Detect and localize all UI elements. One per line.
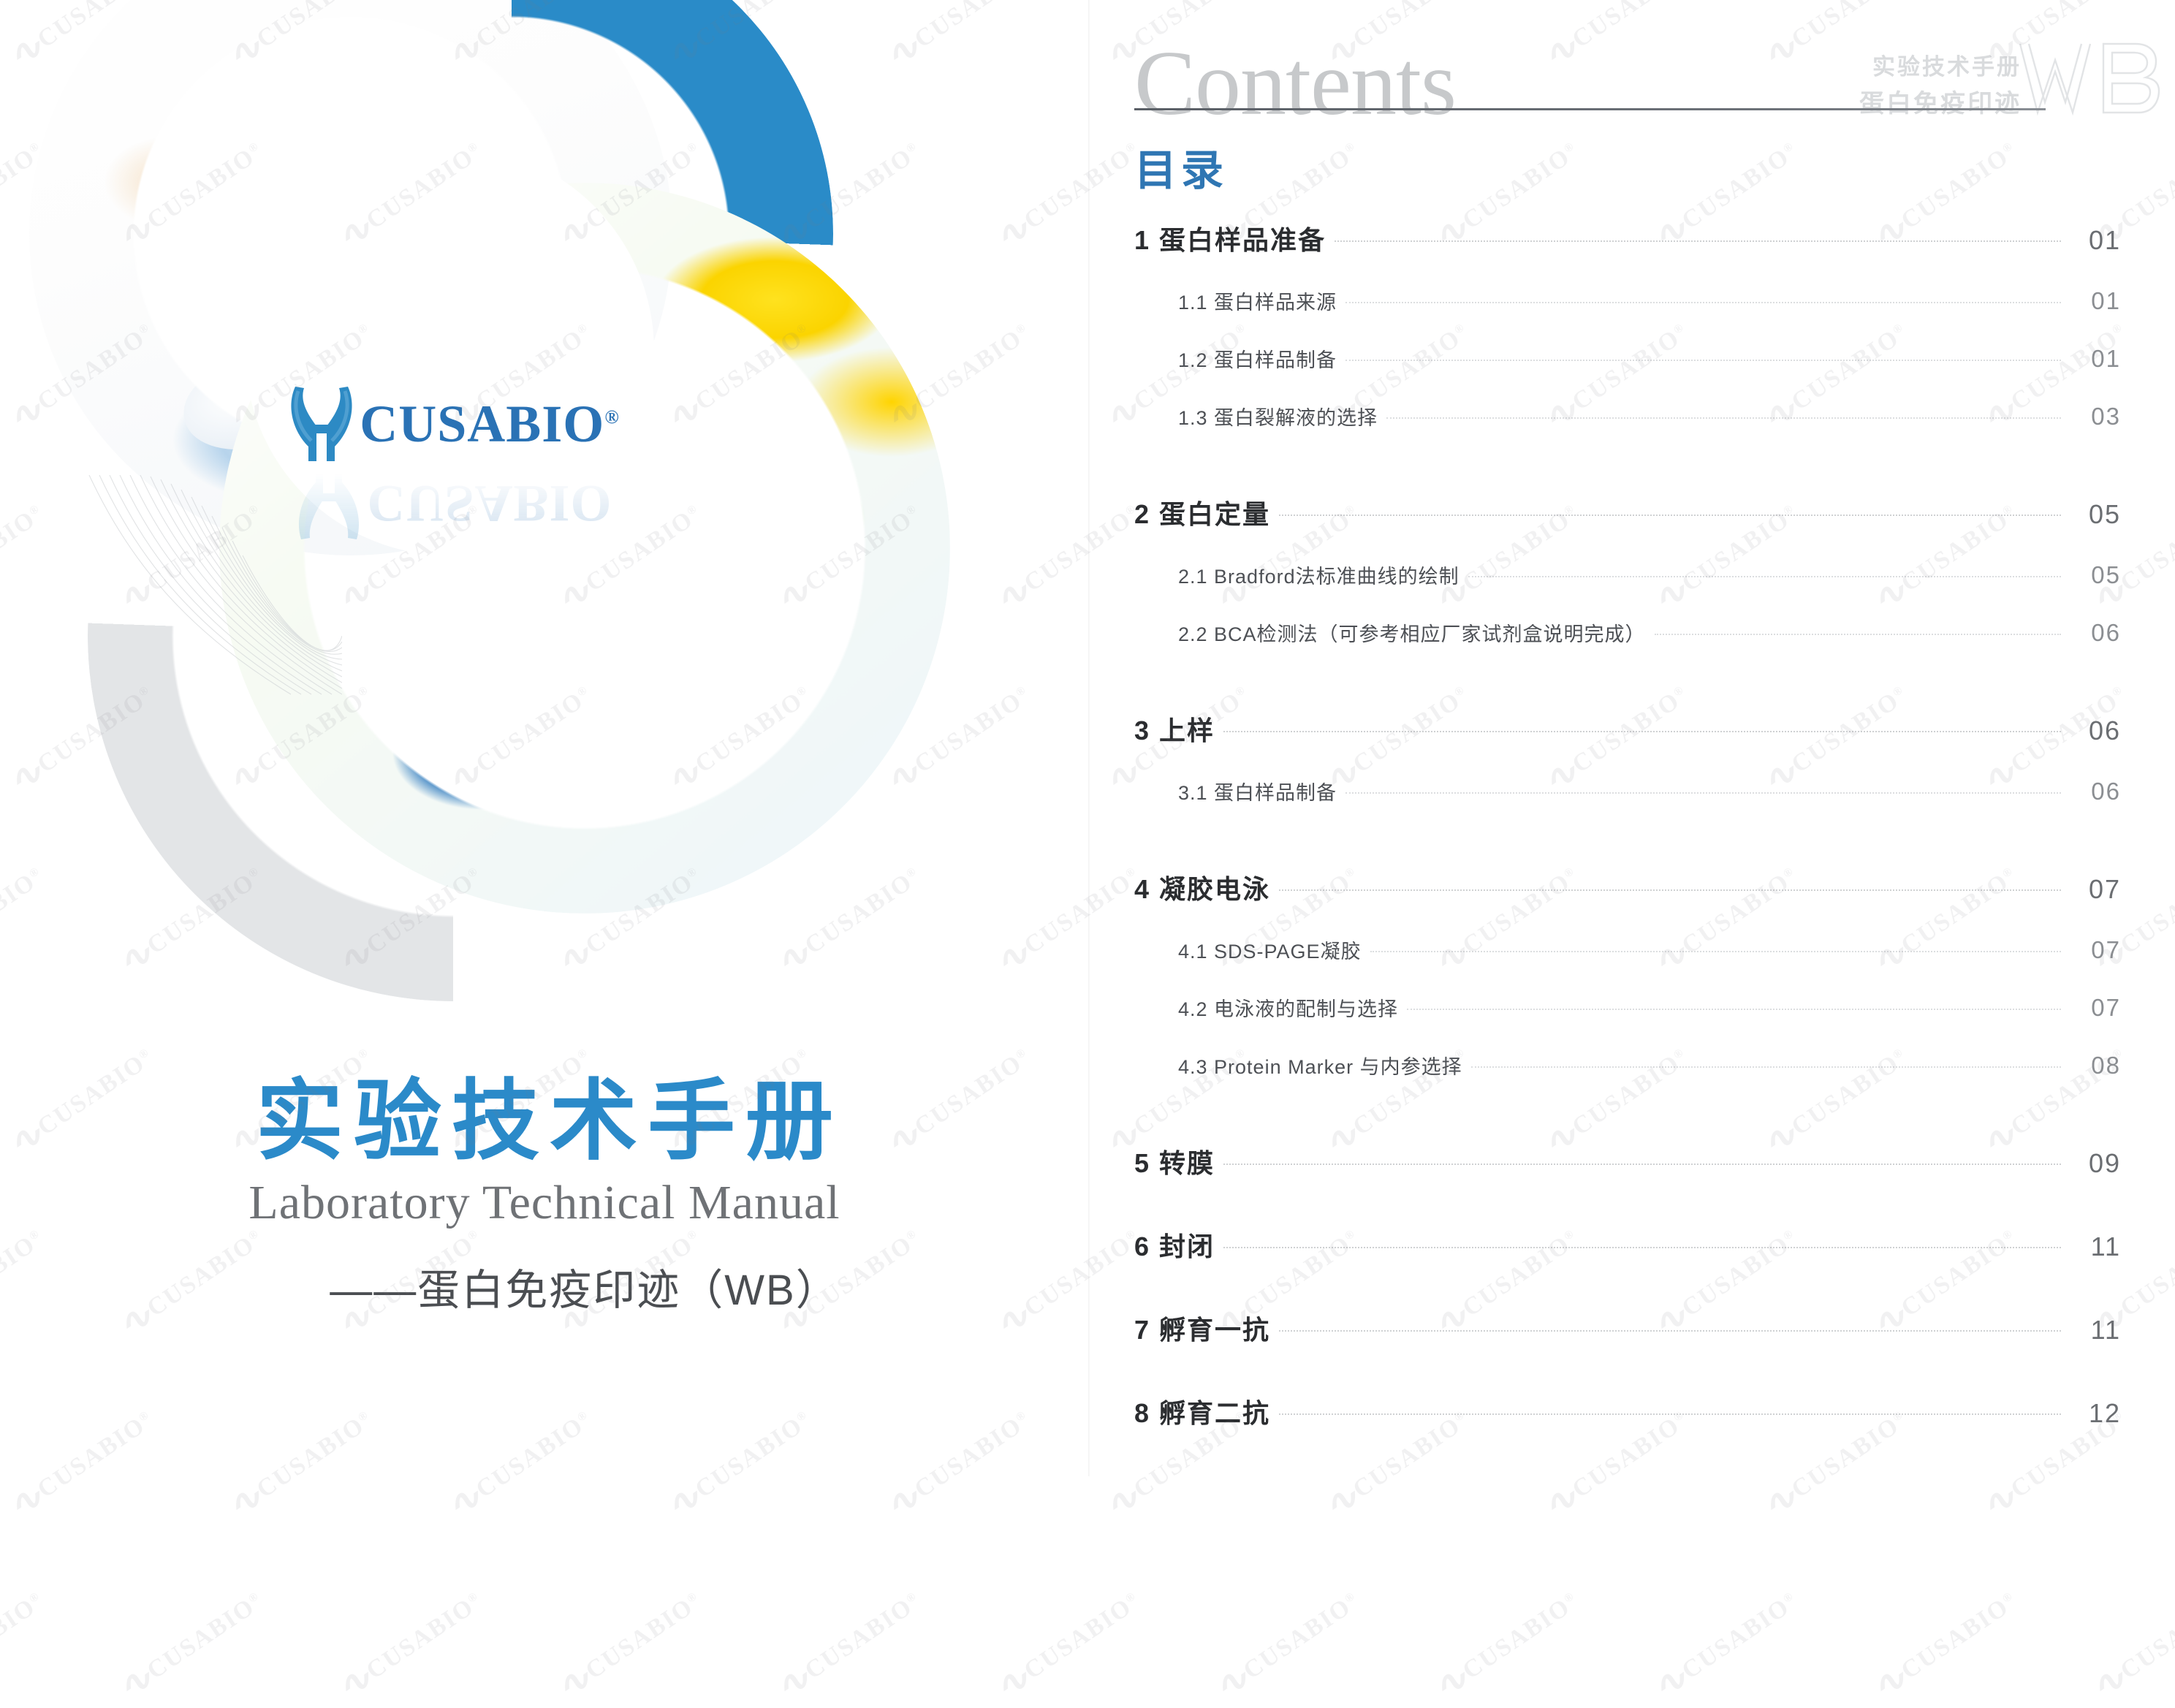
toc-entry-5[interactable]: 5 转膜 09 xyxy=(1134,1142,2121,1180)
toc-dot-leader xyxy=(1223,1164,2061,1165)
toc-dot-leader xyxy=(1223,1247,2061,1248)
toc-entry-label: 2.2 BCA检测法（可参考相应厂家试剂盒说明完成） xyxy=(1178,618,1646,647)
toc-entry-label: 1.3 蛋白裂解液的选择 xyxy=(1178,402,1378,430)
header-manual-labels: 实验技术手册 蛋白免疫印迹 xyxy=(1859,50,2022,124)
toc-dot-leader xyxy=(1279,889,2061,891)
toc-entry-label: 4.3 Protein Marker 与内参选择 xyxy=(1178,1051,1462,1079)
toc-entry-page: 07 xyxy=(2068,874,2121,905)
cover-subtitle: ——蛋白免疫印迹（WB） xyxy=(0,1256,1089,1317)
watermark-cusabio: ∿CUSABIO® xyxy=(774,1587,927,1703)
toc-entry-page: 08 xyxy=(2068,1052,2121,1079)
contents-page: Contents 实验技术手册 蛋白免疫印迹 目录 xyxy=(1089,0,2175,1476)
toc-entry-page: 01 xyxy=(2068,345,2121,373)
toc-dot-leader xyxy=(1279,515,2061,516)
toc-entry-label: 5 转膜 xyxy=(1134,1142,1215,1180)
toc-dot-leader xyxy=(1335,240,2061,242)
toc-dot-leader xyxy=(1345,302,2061,303)
toc-entry-page: 11 xyxy=(2068,1231,2121,1262)
cover-page: CUSABIO CUSABIO® 实验技术手册 Labora xyxy=(0,0,1089,1476)
toc-entry-6[interactable]: 6 封闭 11 xyxy=(1134,1226,2121,1264)
toc-entry-label: 8 孵育二抗 xyxy=(1134,1392,1270,1430)
toc-entry-page: 09 xyxy=(2068,1148,2121,1179)
toc-entry-page: 06 xyxy=(2068,778,2121,805)
watermark-cusabio: ∿CUSABIO® xyxy=(116,1587,269,1703)
toc-dot-leader xyxy=(1279,1413,2061,1415)
toc-dot-leader xyxy=(1386,417,2061,419)
toc-entry-1[interactable]: 1 蛋白样品准备 01 xyxy=(1134,219,2121,257)
watermark-cusabio: ∿CUSABIO® xyxy=(0,1587,50,1703)
toc-entry-2[interactable]: 2 蛋白定量 05 xyxy=(1134,493,2121,531)
cusabio-wordmark: CUSABIO® xyxy=(360,398,620,450)
toc-entry-list: 1 蛋白样品准备 01 1.1 蛋白样品来源 01 1.2 蛋白样品制备 01 xyxy=(1134,219,2121,1476)
toc-entry-1-3[interactable]: 1.3 蛋白裂解液的选择 03 xyxy=(1134,402,2121,430)
toc-entry-7[interactable]: 7 孵育一抗 11 xyxy=(1134,1309,2121,1347)
contents-title-cn: 目录 xyxy=(1134,136,1228,197)
toc-dot-leader xyxy=(1345,792,2061,794)
logo-reflection: CUSABIO xyxy=(256,474,650,544)
toc-entry-3[interactable]: 3 上样 06 xyxy=(1134,710,2121,748)
toc-entry-label: 1 蛋白样品准备 xyxy=(1134,219,1326,257)
toc-dot-leader xyxy=(1655,634,2061,635)
header-divider-rule xyxy=(1134,108,2046,110)
cover-title-en: Laboratory Technical Manual xyxy=(0,1175,1089,1231)
toc-entry-label: 4.1 SDS-PAGE凝胶 xyxy=(1178,935,1362,964)
toc-entry-label: 1.2 蛋白样品制备 xyxy=(1178,344,1337,373)
cover-artwork: CUSABIO CUSABIO® xyxy=(0,0,1089,1067)
toc-entry-page: 06 xyxy=(2068,619,2121,647)
toc-entry-label: 2 蛋白定量 xyxy=(1134,493,1270,531)
toc-dot-leader xyxy=(1471,1066,2061,1068)
toc-entry-page: 05 xyxy=(2068,499,2121,530)
toc-entry-4-1[interactable]: 4.1 SDS-PAGE凝胶 07 xyxy=(1134,935,2121,964)
toc-entry-label: 7 孵育一抗 xyxy=(1134,1309,1270,1347)
watermark-cusabio: ∿CUSABIO® xyxy=(1870,1587,2023,1703)
watermark-cusabio: ∿CUSABIO® xyxy=(335,1587,488,1703)
table-of-contents: Contents 实验技术手册 蛋白免疫印迹 目录 xyxy=(1089,0,2175,1476)
cusabio-wordmark-reflection: CUSABIO xyxy=(367,477,612,530)
toc-entry-label: 6 封闭 xyxy=(1134,1226,1215,1264)
toc-entry-label: 2.1 Bradford法标准曲线的绘制 xyxy=(1178,561,1460,589)
toc-entry-page: 06 xyxy=(2068,716,2121,746)
registered-trademark-icon: ® xyxy=(604,406,619,428)
toc-entry-page: 07 xyxy=(2068,994,2121,1022)
toc-entry-3-1[interactable]: 3.1 蛋白样品制备 06 xyxy=(1134,777,2121,805)
toc-entry-page: 01 xyxy=(2068,225,2121,256)
toc-entry-4-3[interactable]: 4.3 Protein Marker 与内参选择 08 xyxy=(1134,1051,2121,1079)
toc-entry-label: 4 凝胶电泳 xyxy=(1134,868,1270,906)
watermark-cusabio: ∿CUSABIO® xyxy=(993,1587,1146,1703)
toc-dot-leader xyxy=(1407,1009,2061,1010)
watermark-cusabio: ∿CUSABIO® xyxy=(2089,1587,2175,1703)
watermark-cusabio: ∿CUSABIO® xyxy=(1212,1587,1365,1703)
contents-title-en: Contents xyxy=(1134,38,1456,130)
header-label-line1: 实验技术手册 xyxy=(1859,50,2022,85)
toc-dot-leader xyxy=(1370,951,2061,952)
toc-entry-4[interactable]: 4 凝胶电泳 07 xyxy=(1134,868,2121,906)
watermark-cusabio: ∿CUSABIO® xyxy=(1651,1587,1804,1703)
toc-entry-8[interactable]: 8 孵育二抗 12 xyxy=(1134,1392,2121,1430)
toc-entry-label: 1.1 蛋白样品来源 xyxy=(1178,286,1337,315)
cusabio-butterfly-h-logo-reflection xyxy=(294,474,364,544)
toc-entry-page: 03 xyxy=(2068,403,2121,430)
toc-entry-1-1[interactable]: 1.1 蛋白样品来源 01 xyxy=(1134,286,2121,315)
watermark-cusabio: ∿CUSABIO® xyxy=(1432,1587,1584,1703)
contents-header: Contents 实验技术手册 蛋白免疫印迹 目录 xyxy=(1089,0,2175,219)
watermark-cusabio: ∿CUSABIO® xyxy=(555,1587,707,1703)
page-gutter-divider xyxy=(1088,0,1090,1476)
toc-entry-page: 12 xyxy=(2068,1398,2121,1429)
manual-spread: CUSABIO CUSABIO® 实验技术手册 Labora xyxy=(0,0,2175,1476)
toc-entry-page: 05 xyxy=(2068,561,2121,589)
toc-dot-leader xyxy=(1468,576,2061,577)
header-label-line2: 蛋白免疫印迹 xyxy=(1859,85,2022,124)
toc-entry-page: 11 xyxy=(2068,1315,2121,1345)
wb-outline-badge-icon xyxy=(2016,38,2169,118)
toc-dot-leader xyxy=(1345,360,2061,361)
toc-entry-1-2[interactable]: 1.2 蛋白样品制备 01 xyxy=(1134,344,2121,373)
cusabio-butterfly-h-icon xyxy=(286,384,357,464)
toc-entry-page: 07 xyxy=(2068,936,2121,964)
toc-entry-4-2[interactable]: 4.2 电泳液的配制与选择 07 xyxy=(1134,993,2121,1022)
toc-entry-label: 3 上样 xyxy=(1134,710,1215,748)
toc-dot-leader xyxy=(1279,1330,2061,1332)
cover-title-cn: 实验技术手册 xyxy=(0,1074,1089,1169)
cusabio-logo: CUSABIO® xyxy=(256,365,650,482)
toc-entry-page: 01 xyxy=(2068,287,2121,315)
cover-title-block: 实验技术手册 Laboratory Technical Manual ——蛋白免… xyxy=(0,1074,1089,1317)
toc-entry-2-2[interactable]: 2.2 BCA检测法（可参考相应厂家试剂盒说明完成） 06 xyxy=(1134,618,2121,647)
toc-entry-label: 3.1 蛋白样品制备 xyxy=(1178,777,1337,805)
toc-entry-2-1[interactable]: 2.1 Bradford法标准曲线的绘制 05 xyxy=(1134,561,2121,589)
toc-dot-leader xyxy=(1223,731,2061,732)
toc-entry-label: 4.2 电泳液的配制与选择 xyxy=(1178,993,1398,1022)
